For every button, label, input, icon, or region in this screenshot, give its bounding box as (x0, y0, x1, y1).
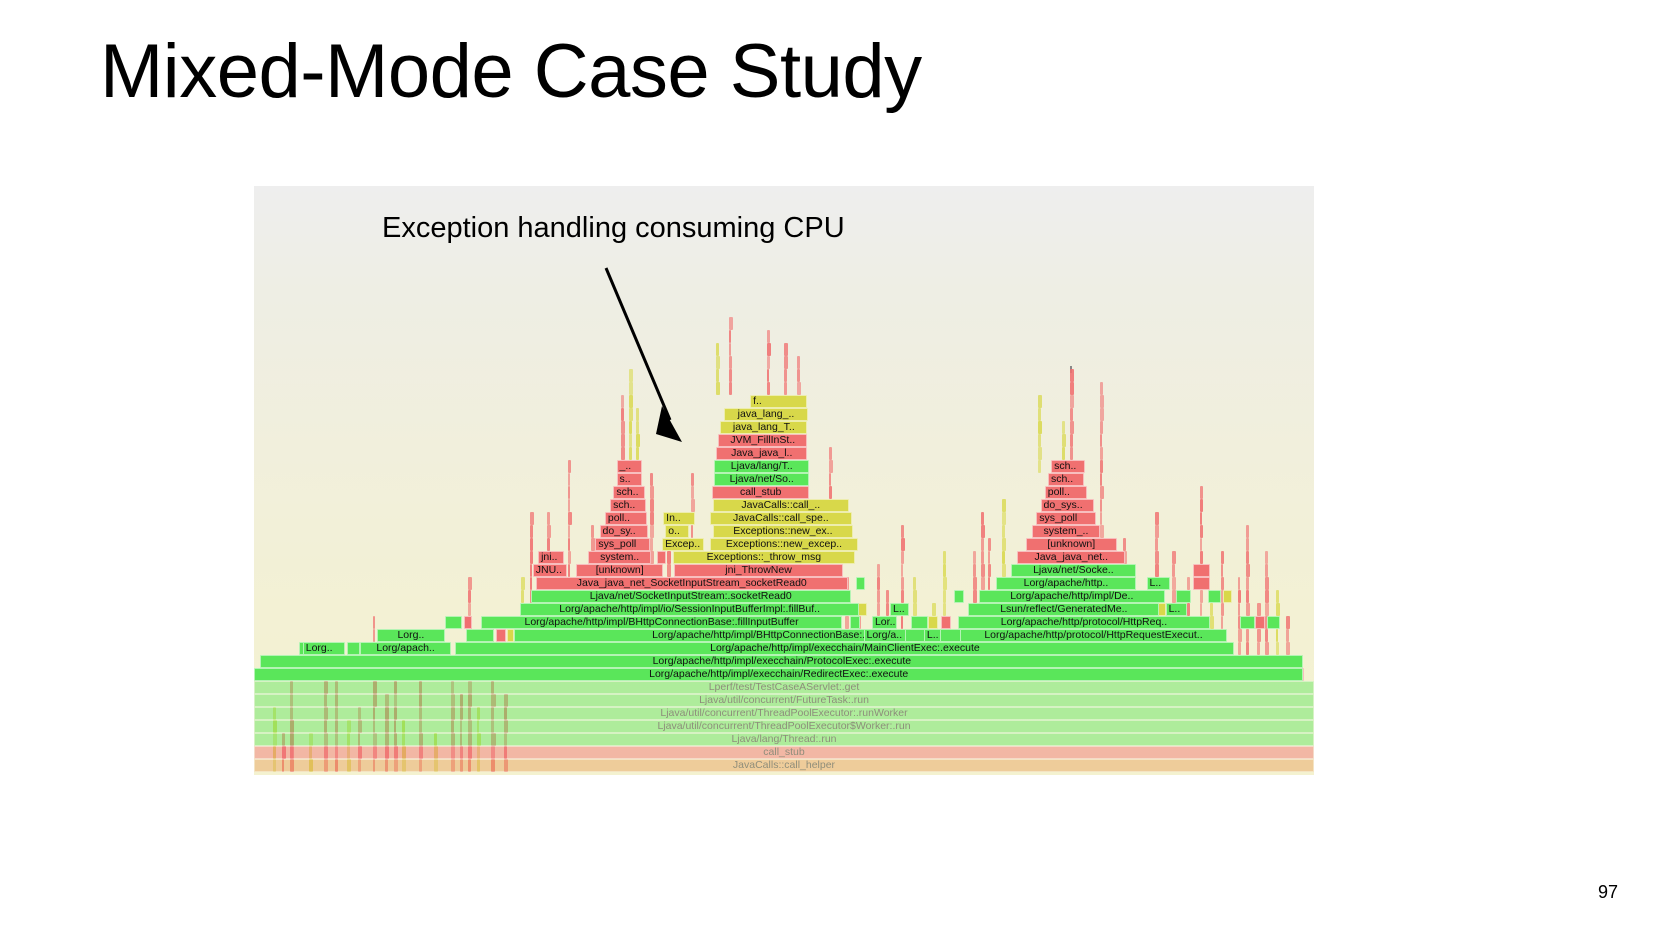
flame-frame[interactable]: JavaCalls::call_helper (254, 759, 1314, 772)
flame-frame-sliver[interactable] (1246, 577, 1248, 590)
flame-frame-sliver[interactable] (1193, 577, 1210, 590)
flame-frame-sliver[interactable] (547, 538, 550, 551)
flame-frame-sliver[interactable] (797, 369, 801, 382)
flame-frame[interactable]: poll.. (605, 512, 647, 525)
flame-frame-sliver[interactable] (1200, 486, 1203, 499)
flame-frame-sliver[interactable] (1246, 629, 1249, 642)
flame-frame-label: Lorg/apache/http/impl/io/SessionInputBuf… (559, 603, 820, 615)
flame-frame-sliver[interactable] (829, 460, 833, 473)
flame-frame-sliver[interactable] (901, 577, 905, 590)
flame-frame-sliver[interactable] (1246, 538, 1248, 551)
flame-frame-sliver[interactable] (1155, 564, 1159, 577)
flame-frame-sliver[interactable] (547, 525, 551, 538)
flame-frame-sliver[interactable] (530, 512, 534, 525)
flame-frame-sliver[interactable] (1265, 577, 1269, 590)
flame-frame[interactable]: Exceptions::new_excep.. (710, 538, 858, 551)
flame-frame-sliver[interactable] (1200, 590, 1203, 603)
flame-frame[interactable]: Lorg/apache/http/impl/execchain/MainClie… (455, 642, 1234, 655)
flame-frame-sliver[interactable] (650, 525, 653, 538)
flame-frame-sliver[interactable] (1200, 603, 1203, 616)
flame-frame-sliver[interactable] (1070, 447, 1073, 460)
flame-frame[interactable]: Lorg/apache/http/impl/io/SessionInputBuf… (520, 603, 859, 616)
flame-frame-sliver[interactable] (784, 343, 788, 356)
flame-frame-sliver[interactable] (1070, 408, 1073, 421)
flame-frame-sliver[interactable] (1002, 538, 1006, 551)
flame-frame-sliver[interactable] (347, 642, 360, 655)
flame-frame-sliver[interactable] (650, 499, 654, 512)
flame-frame-sliver[interactable] (636, 421, 640, 434)
flame-frame-sliver[interactable] (729, 356, 732, 369)
flame-frame[interactable]: L.. (1166, 603, 1187, 616)
flame-frame-sliver[interactable] (1100, 512, 1102, 525)
flame-frame-sliver[interactable] (468, 590, 471, 603)
flame-frame[interactable]: Lorg.. (377, 629, 445, 642)
flame-frame[interactable]: JNU.. (533, 564, 567, 577)
flame-frame-sliver[interactable] (530, 538, 534, 551)
flame-frame-sliver[interactable] (1257, 629, 1261, 642)
flame-frame-sliver[interactable] (1221, 603, 1225, 616)
flame-frame-sliver[interactable] (1100, 434, 1103, 447)
flame-frame-sliver[interactable] (1070, 395, 1074, 408)
flame-frame[interactable]: call_stub (254, 746, 1314, 759)
flame-frame-sliver[interactable] (943, 577, 947, 590)
flame-frame-sliver[interactable] (1208, 590, 1221, 603)
flame-frame-sliver[interactable] (729, 330, 731, 343)
flame-frame-sliver[interactable] (1062, 434, 1066, 447)
flame-frame[interactable]: L.. (924, 629, 941, 642)
flame-frame-sliver[interactable] (1238, 603, 1240, 616)
flame-frame-sliver[interactable] (1002, 525, 1004, 538)
flame-frame-sliver[interactable] (1286, 616, 1289, 629)
flame-frame[interactable]: Ljava/net/SocketInputStream:.socketRead0 (531, 590, 851, 603)
flame-frame[interactable]: Java_java_net.. (1017, 551, 1125, 564)
flame-frame-sliver[interactable] (621, 434, 625, 447)
flame-frame-sliver[interactable] (913, 590, 916, 603)
flame-frame-sliver[interactable] (1265, 564, 1268, 577)
flame-frame-sliver[interactable] (568, 538, 571, 551)
flame-frame-sliver[interactable] (886, 603, 890, 616)
flame-frame[interactable]: Ljava/net/Socke.. (1011, 564, 1136, 577)
flame-frame-sliver[interactable] (943, 564, 946, 577)
flame-frame-sliver[interactable] (1257, 642, 1260, 655)
flame-frame-sliver[interactable] (568, 460, 571, 473)
flame-frame-sliver[interactable] (496, 629, 507, 642)
flame-frame-sliver[interactable] (1265, 590, 1268, 603)
flame-frame-sliver[interactable] (1100, 499, 1102, 512)
flame-frame-sliver[interactable] (1221, 616, 1223, 629)
flame-frame[interactable]: sch.. (613, 486, 645, 499)
flame-frame[interactable]: Lorg/apache/http.. (996, 577, 1136, 590)
flame-frame-sliver[interactable] (913, 577, 916, 590)
flame-frame-sliver[interactable] (858, 603, 866, 616)
flame-frame[interactable]: Lsun/reflect/GeneratedMe.. (968, 603, 1159, 616)
flame-frame-sliver[interactable] (716, 382, 720, 395)
flame-frame-sliver[interactable] (568, 525, 570, 538)
flame-frame[interactable]: o.. (665, 525, 688, 538)
flame-frame[interactable]: f.. (750, 395, 807, 408)
flame-frame-sliver[interactable] (691, 473, 695, 486)
flame-frame-sliver[interactable] (877, 577, 880, 590)
flame-frame-sliver[interactable] (973, 564, 976, 577)
flame-frame[interactable]: system_.. (1032, 525, 1100, 538)
flame-frame[interactable]: JVM_FillInSt.. (718, 434, 807, 447)
flame-frame-sliver[interactable] (1172, 577, 1176, 590)
flame-frame-sliver[interactable] (1070, 382, 1074, 395)
flame-frame-sliver[interactable] (530, 564, 533, 577)
flame-frame-sliver[interactable] (468, 577, 472, 590)
flame-frame-sliver[interactable] (877, 564, 880, 577)
flame-frame-sliver[interactable] (1100, 382, 1103, 395)
flame-frame-sliver[interactable] (1100, 421, 1104, 434)
flame-frame[interactable]: Java_java_l.. (716, 447, 807, 460)
flame-frame-sliver[interactable] (767, 356, 770, 369)
flame-frame-sliver[interactable] (621, 408, 625, 421)
flame-frame-sliver[interactable] (373, 629, 376, 642)
flame-frame-sliver[interactable] (1187, 603, 1190, 616)
flame-frame-sliver[interactable] (729, 382, 732, 395)
flame-frame-sliver[interactable] (650, 512, 654, 525)
flame-frame-sliver[interactable] (784, 369, 787, 382)
flame-frame-sliver[interactable] (901, 616, 904, 629)
flame-frame-sliver[interactable] (1238, 642, 1242, 655)
flame-frame-sliver[interactable] (636, 408, 640, 421)
flame-frame-sliver[interactable] (797, 356, 801, 369)
flame-frame-label: JVM_FillInSt.. (730, 434, 795, 446)
flame-frame[interactable]: Lorg/apach.. (360, 642, 451, 655)
flame-frame-sliver[interactable] (1210, 616, 1214, 629)
flame-frame-sliver[interactable] (943, 590, 946, 603)
flame-frame-sliver[interactable] (716, 356, 720, 369)
flame-frame-sliver[interactable] (1246, 590, 1249, 603)
flame-frame-sliver[interactable] (1265, 642, 1269, 655)
flame-frame-sliver[interactable] (1200, 538, 1203, 551)
flame-frame-sliver[interactable] (886, 590, 889, 603)
flame-frame-sliver[interactable] (1155, 512, 1159, 525)
flame-frame-sliver[interactable] (530, 577, 533, 590)
flame-frame-sliver[interactable] (1155, 538, 1158, 551)
flame-frame-sliver[interactable] (913, 603, 916, 616)
flame-frame-sliver[interactable] (1221, 564, 1224, 577)
flame-frame-sliver[interactable] (716, 369, 719, 382)
flame-frame-sliver[interactable] (988, 538, 991, 551)
flame-frame-sliver[interactable] (568, 473, 571, 486)
flame-frame-sliver[interactable] (850, 616, 861, 629)
flame-frame[interactable]: Lorg/apache/http/impl/BHttpConnectionBas… (514, 629, 1036, 642)
flame-frame-sliver[interactable] (716, 343, 719, 356)
flame-frame[interactable]: In.. (663, 512, 695, 525)
flame-frame-sliver[interactable] (667, 564, 671, 577)
flame-frame-sliver[interactable] (784, 356, 788, 369)
flame-frame-sliver[interactable] (1172, 590, 1176, 603)
flame-frame-sliver[interactable] (568, 564, 570, 577)
flame-frame-sliver[interactable] (1187, 577, 1190, 590)
flame-frame[interactable]: sch.. (1051, 460, 1085, 473)
flame-frame[interactable]: call_stub (712, 486, 810, 499)
flame-frame-sliver[interactable] (1123, 538, 1126, 551)
flame-frame-sliver[interactable] (464, 616, 472, 629)
flame-frame-sliver[interactable] (988, 551, 990, 564)
flame-frame-sliver[interactable] (591, 525, 594, 538)
flame-frame-sliver[interactable] (547, 512, 550, 525)
flame-frame-sliver[interactable] (1246, 603, 1250, 616)
flame-frame-sliver[interactable] (981, 538, 984, 551)
flame-frame[interactable]: JavaCalls::call_.. (713, 499, 849, 512)
flame-frame-sliver[interactable] (1100, 460, 1103, 473)
flame-frame[interactable]: Excep.. (662, 538, 704, 551)
flame-frame-sliver[interactable] (1002, 551, 1004, 564)
flame-frame-sliver[interactable] (621, 395, 624, 408)
flame-frame-sliver[interactable] (568, 512, 572, 525)
flame-frame-sliver[interactable] (1038, 395, 1041, 408)
flame-frame[interactable]: Lorg.. (303, 642, 345, 655)
flame-frame-sliver[interactable] (691, 486, 694, 499)
flame-frame-sliver[interactable] (767, 343, 771, 356)
flame-frame[interactable]: sch.. (610, 499, 646, 512)
flame-frame[interactable]: Ljava/net/So.. (714, 473, 809, 486)
flame-frame[interactable]: Lorg/apache/http/impl/BHttpConnectionBas… (481, 616, 842, 629)
flame-frame-sliver[interactable] (507, 629, 513, 642)
flame-frame-sliver[interactable] (767, 330, 770, 343)
flame-frame-sliver[interactable] (981, 577, 985, 590)
flame-frame-sliver[interactable] (1038, 408, 1041, 421)
flame-frame-sliver[interactable] (1062, 421, 1065, 434)
flame-frame-sliver[interactable] (1038, 434, 1040, 447)
flame-frame-sliver[interactable] (1100, 473, 1102, 486)
flame-frame-sliver[interactable] (568, 499, 571, 512)
flame-frame-sliver[interactable] (1286, 642, 1289, 655)
flame-frame-sliver[interactable] (1276, 629, 1279, 642)
flame-frame[interactable]: Lorg/apache/http/impl/De.. (979, 590, 1165, 603)
flame-frame-sliver[interactable] (1038, 447, 1042, 460)
flame-frame-sliver[interactable] (981, 525, 985, 538)
flame-frame-sliver[interactable] (1100, 447, 1104, 460)
flame-frame[interactable]: Lorg/apache/http/impl/execchain/Protocol… (260, 655, 1303, 668)
flame-frame-sliver[interactable] (568, 551, 571, 564)
flame-frame-sliver[interactable] (981, 564, 985, 577)
flame-frame-sliver[interactable] (1100, 408, 1104, 421)
flame-frame-sliver[interactable] (373, 616, 376, 629)
flame-frame-sliver[interactable] (636, 434, 640, 447)
flame-frame-sliver[interactable] (911, 616, 928, 629)
flame-frame-sliver[interactable] (954, 590, 965, 603)
flame-frame-sliver[interactable] (1238, 590, 1241, 603)
flame-frame-sliver[interactable] (1002, 564, 1005, 577)
flame-frame-sliver[interactable] (1070, 434, 1072, 447)
flame-frame-sliver[interactable] (1070, 421, 1073, 434)
flame-frame[interactable]: L.. (890, 603, 909, 616)
flame-frame[interactable]: JavaCalls::call_spe.. (710, 512, 852, 525)
flame-frame-sliver[interactable] (629, 369, 633, 382)
flame-frame-sliver[interactable] (629, 421, 632, 434)
flame-frame[interactable]: [unknown] (576, 564, 663, 577)
flame-frame-sliver[interactable] (729, 369, 732, 382)
flame-frame-sliver[interactable] (621, 447, 625, 460)
flame-frame-sliver[interactable] (691, 525, 694, 538)
flame-frame-sliver[interactable] (629, 395, 633, 408)
flame-frame-sliver[interactable] (767, 382, 770, 395)
flame-frame[interactable]: jni.. (538, 551, 563, 564)
flame-frame[interactable]: poll.. (1045, 486, 1087, 499)
flame-frame-sliver[interactable] (1223, 590, 1233, 603)
flame-frame-sliver[interactable] (466, 629, 494, 642)
flame-frame-sliver[interactable] (629, 408, 632, 421)
flame-frame-sliver[interactable] (1038, 421, 1042, 434)
flame-frame-sliver[interactable] (943, 551, 946, 564)
flame-frame[interactable]: [unknown] (1026, 538, 1117, 551)
flame-frame-sliver[interactable] (1276, 642, 1279, 655)
flame-frame-sliver[interactable] (1193, 564, 1210, 577)
flame-frame-sliver[interactable] (1100, 486, 1104, 499)
flame-frame-sliver[interactable] (784, 382, 787, 395)
flame-frame[interactable]: system.. (588, 551, 652, 564)
flame-frame-sliver[interactable] (941, 616, 952, 629)
flame-frame[interactable]: L.. (1147, 577, 1170, 590)
flame-frame[interactable]: Ljava/lang/T.. (714, 460, 809, 473)
flame-frame-sliver[interactable] (1062, 447, 1065, 460)
flame-frame[interactable]: do_sys.. (1041, 499, 1094, 512)
flame-frame-sliver[interactable] (856, 577, 864, 590)
flame-frame-sliver[interactable] (568, 486, 570, 499)
flame-frame-sliver[interactable] (1246, 551, 1249, 564)
flame-frame[interactable]: Ljava/util/concurrent/ThreadPoolExecutor… (254, 720, 1314, 733)
flame-frame-sliver[interactable] (988, 564, 992, 577)
flame-frame-sliver[interactable] (1100, 395, 1104, 408)
flame-frame-sliver[interactable] (636, 447, 639, 460)
flame-frame-sliver[interactable] (1200, 499, 1204, 512)
flame-frame-sliver[interactable] (973, 577, 977, 590)
flame-frame-sliver[interactable] (1172, 564, 1175, 577)
flame-frame-sliver[interactable] (932, 603, 936, 616)
flame-frame[interactable]: Lorg/apache/http/impl/execchain/Redirect… (254, 668, 1303, 681)
flame-frame-sliver[interactable] (530, 525, 533, 538)
flame-frame-sliver[interactable] (1070, 369, 1073, 382)
flame-frame-sliver[interactable] (901, 590, 905, 603)
flame-frame-sliver[interactable] (629, 434, 631, 447)
flame-frame-sliver[interactable] (667, 551, 671, 564)
flame-frame-sliver[interactable] (629, 382, 633, 395)
flame-frame-sliver[interactable] (1257, 603, 1261, 616)
flame-frame-sliver[interactable] (1276, 590, 1279, 603)
flame-frame[interactable]: java_lang_.. (724, 408, 809, 421)
flame-frame-sliver[interactable] (981, 512, 984, 525)
flame-frame-sliver[interactable] (988, 577, 991, 590)
flame-frame-sliver[interactable] (1100, 525, 1104, 538)
flame-frame[interactable]: Lperf/test/TestCaseAServlet:.get (254, 681, 1314, 694)
flame-frame[interactable]: Exceptions::new_ex.. (713, 525, 853, 538)
flame-frame-sliver[interactable] (877, 603, 880, 616)
flame-frame[interactable]: _.. (617, 460, 642, 473)
flame-frame-sliver[interactable] (928, 616, 938, 629)
flame-frame-sliver[interactable] (1265, 629, 1267, 642)
flame-frame-sliver[interactable] (468, 603, 471, 616)
flame-frame-sliver[interactable] (973, 551, 976, 564)
flame-frame-sliver[interactable] (657, 551, 667, 564)
flame-frame[interactable]: Lorg/a.. (864, 629, 906, 642)
flame-frame-sliver[interactable] (1200, 551, 1203, 564)
flame-frame[interactable]: jni_ThrowNew (674, 564, 844, 577)
flame-frame-sliver[interactable] (650, 538, 653, 551)
flame-frame-sliver[interactable] (521, 590, 524, 603)
flame-frame[interactable]: Ljava/util/concurrent/ThreadPoolExecutor… (254, 707, 1314, 720)
flame-frame[interactable]: java_lang_T.. (720, 421, 807, 434)
flame-frame-sliver[interactable] (1276, 603, 1280, 616)
flame-frame-sliver[interactable] (650, 486, 653, 499)
flame-frame-sliver[interactable] (1200, 525, 1204, 538)
flame-frame-sliver[interactable] (981, 551, 984, 564)
flame-frame[interactable]: do_sy.. (600, 525, 649, 538)
flame-frame-sliver[interactable] (1002, 499, 1005, 512)
flame-frame-sliver[interactable] (1155, 551, 1159, 564)
flame-frame-sliver[interactable] (530, 551, 534, 564)
flame-frame-sliver[interactable] (901, 564, 904, 577)
flame-frame-sliver[interactable] (1246, 642, 1249, 655)
flame-frame-sliver[interactable] (1265, 603, 1269, 616)
flame-frame-sliver[interactable] (901, 551, 905, 564)
flame-frame-sliver[interactable] (621, 421, 625, 434)
flame-frame-sliver[interactable] (1002, 512, 1005, 525)
flame-frame-sliver[interactable] (1246, 525, 1249, 538)
flame-frame-sliver[interactable] (1155, 525, 1159, 538)
flame-frame-sliver[interactable] (829, 486, 833, 499)
flame-frame-sliver[interactable] (445, 616, 462, 629)
flame-frame[interactable]: Java_java_net_SocketInputStream_socketRe… (536, 577, 848, 590)
flame-frame[interactable]: Lorg/apache/http/protocol/HttpRequestExe… (960, 629, 1227, 642)
flame-frame-sliver[interactable] (829, 473, 832, 486)
flame-frame-sliver[interactable] (943, 603, 946, 616)
flame-frame-sliver[interactable] (729, 343, 731, 356)
flame-frame[interactable]: Lor.. (872, 616, 897, 629)
flame-frame-sliver[interactable] (1238, 577, 1240, 590)
flame-frame[interactable]: sys_poll (1036, 512, 1095, 525)
flame-frame-sliver[interactable] (1210, 603, 1212, 616)
flame-frame-sliver[interactable] (1267, 616, 1280, 629)
flame-frame-sliver[interactable] (767, 369, 769, 382)
flame-frame-sliver[interactable] (829, 447, 832, 460)
flame-frame-sliver[interactable] (629, 447, 631, 460)
flamegraph-canvas[interactable]: JavaCalls::call_helpercall_stubLjava/lan… (254, 186, 1314, 775)
flame-frame-sliver[interactable] (901, 538, 905, 551)
flame-frame-sliver[interactable] (1255, 616, 1266, 629)
flame-frame-sliver[interactable] (845, 616, 848, 629)
flame-frame-sliver[interactable] (973, 590, 977, 603)
flame-frame-sliver[interactable] (1221, 577, 1224, 590)
flame-frame-sliver[interactable] (797, 382, 801, 395)
flame-frame[interactable]: sch.. (1048, 473, 1084, 486)
flame-frame-sliver[interactable] (1240, 616, 1255, 629)
flame-frame-sliver[interactable] (1286, 629, 1289, 642)
flame-frame-sliver[interactable] (901, 525, 904, 538)
flame-frame-sliver[interactable] (650, 473, 653, 486)
flame-frame-sliver[interactable] (1172, 551, 1176, 564)
flame-frame-sliver[interactable] (521, 577, 524, 590)
flame-frame-sliver[interactable] (691, 499, 695, 512)
flame-frame[interactable]: Exceptions::_throw_msg (673, 551, 855, 564)
flame-frame[interactable]: sys_poll (595, 538, 650, 551)
flame-frame[interactable]: s.. (617, 473, 642, 486)
flame-frame-sliver[interactable] (877, 590, 880, 603)
flame-frame[interactable]: Ljava/lang/Thread:.run (254, 733, 1314, 746)
flame-frame-sliver[interactable] (1246, 564, 1250, 577)
flame-frame-sliver[interactable] (1200, 512, 1203, 525)
flame-frame-sliver[interactable] (1221, 551, 1224, 564)
flame-frame[interactable]: Ljava/util/concurrent/FutureTask:.run (254, 694, 1314, 707)
flame-frame-sliver[interactable] (1265, 551, 1268, 564)
flame-frame-sliver[interactable] (1038, 460, 1041, 473)
flame-frame-sliver[interactable] (1238, 629, 1242, 642)
flame-frame-sliver[interactable] (1176, 590, 1191, 603)
flame-frame-sliver[interactable] (729, 317, 733, 330)
flame-frame[interactable]: Lorg/apache/http/protocol/HttpReq.. (958, 616, 1210, 629)
